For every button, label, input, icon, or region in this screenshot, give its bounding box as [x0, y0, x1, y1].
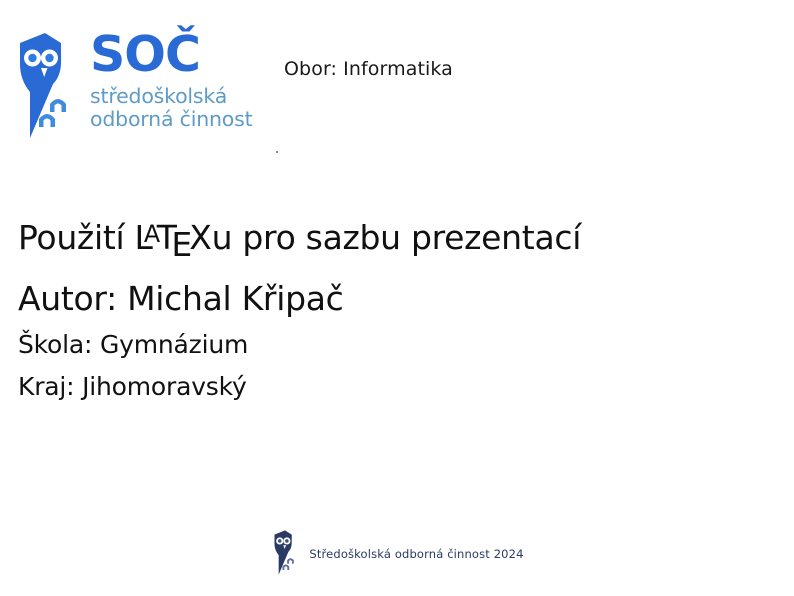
author-line: Autor: Michal Křipač — [18, 277, 776, 321]
soc-owl-icon-small — [270, 530, 300, 578]
footer-text: Středoškolská odborná činnost 2024 — [309, 546, 523, 562]
soc-subtitle-line-1: středoškolská — [90, 85, 300, 108]
latex-logo: LATEXu — [135, 212, 233, 267]
stray-dot-artifact — [276, 151, 278, 153]
title-suffix: pro sazbu prezentací — [232, 218, 581, 257]
slide-footer: Středoškolská odborná činnost 2024 — [0, 524, 794, 584]
soc-subtitle-line-2: odborná činnost — [90, 108, 300, 131]
title-prefix: Použití — [18, 218, 135, 257]
region-line: Kraj: Jihomoravský — [18, 369, 776, 405]
presentation-slide: SOČ středoškolská odborná činnost Obor: … — [0, 0, 794, 596]
field-of-study-line: Obor: Informatika — [284, 57, 453, 81]
soc-brand-logo: SOČ středoškolská odborná činnost — [14, 30, 294, 148]
soc-owl-icon — [14, 32, 76, 146]
school-line: Škola: Gymnázium — [18, 327, 776, 363]
title-block: Použití LATEXu pro sazbu prezentací Auto… — [18, 212, 776, 405]
soc-acronym: SOČ — [90, 30, 300, 82]
latex-logo-suffix: u — [212, 218, 233, 257]
presentation-title: Použití LATEXu pro sazbu prezentací — [18, 212, 776, 267]
latex-logo-x: X — [189, 218, 211, 257]
soc-wordmark: SOČ středoškolská odborná činnost — [90, 30, 300, 146]
